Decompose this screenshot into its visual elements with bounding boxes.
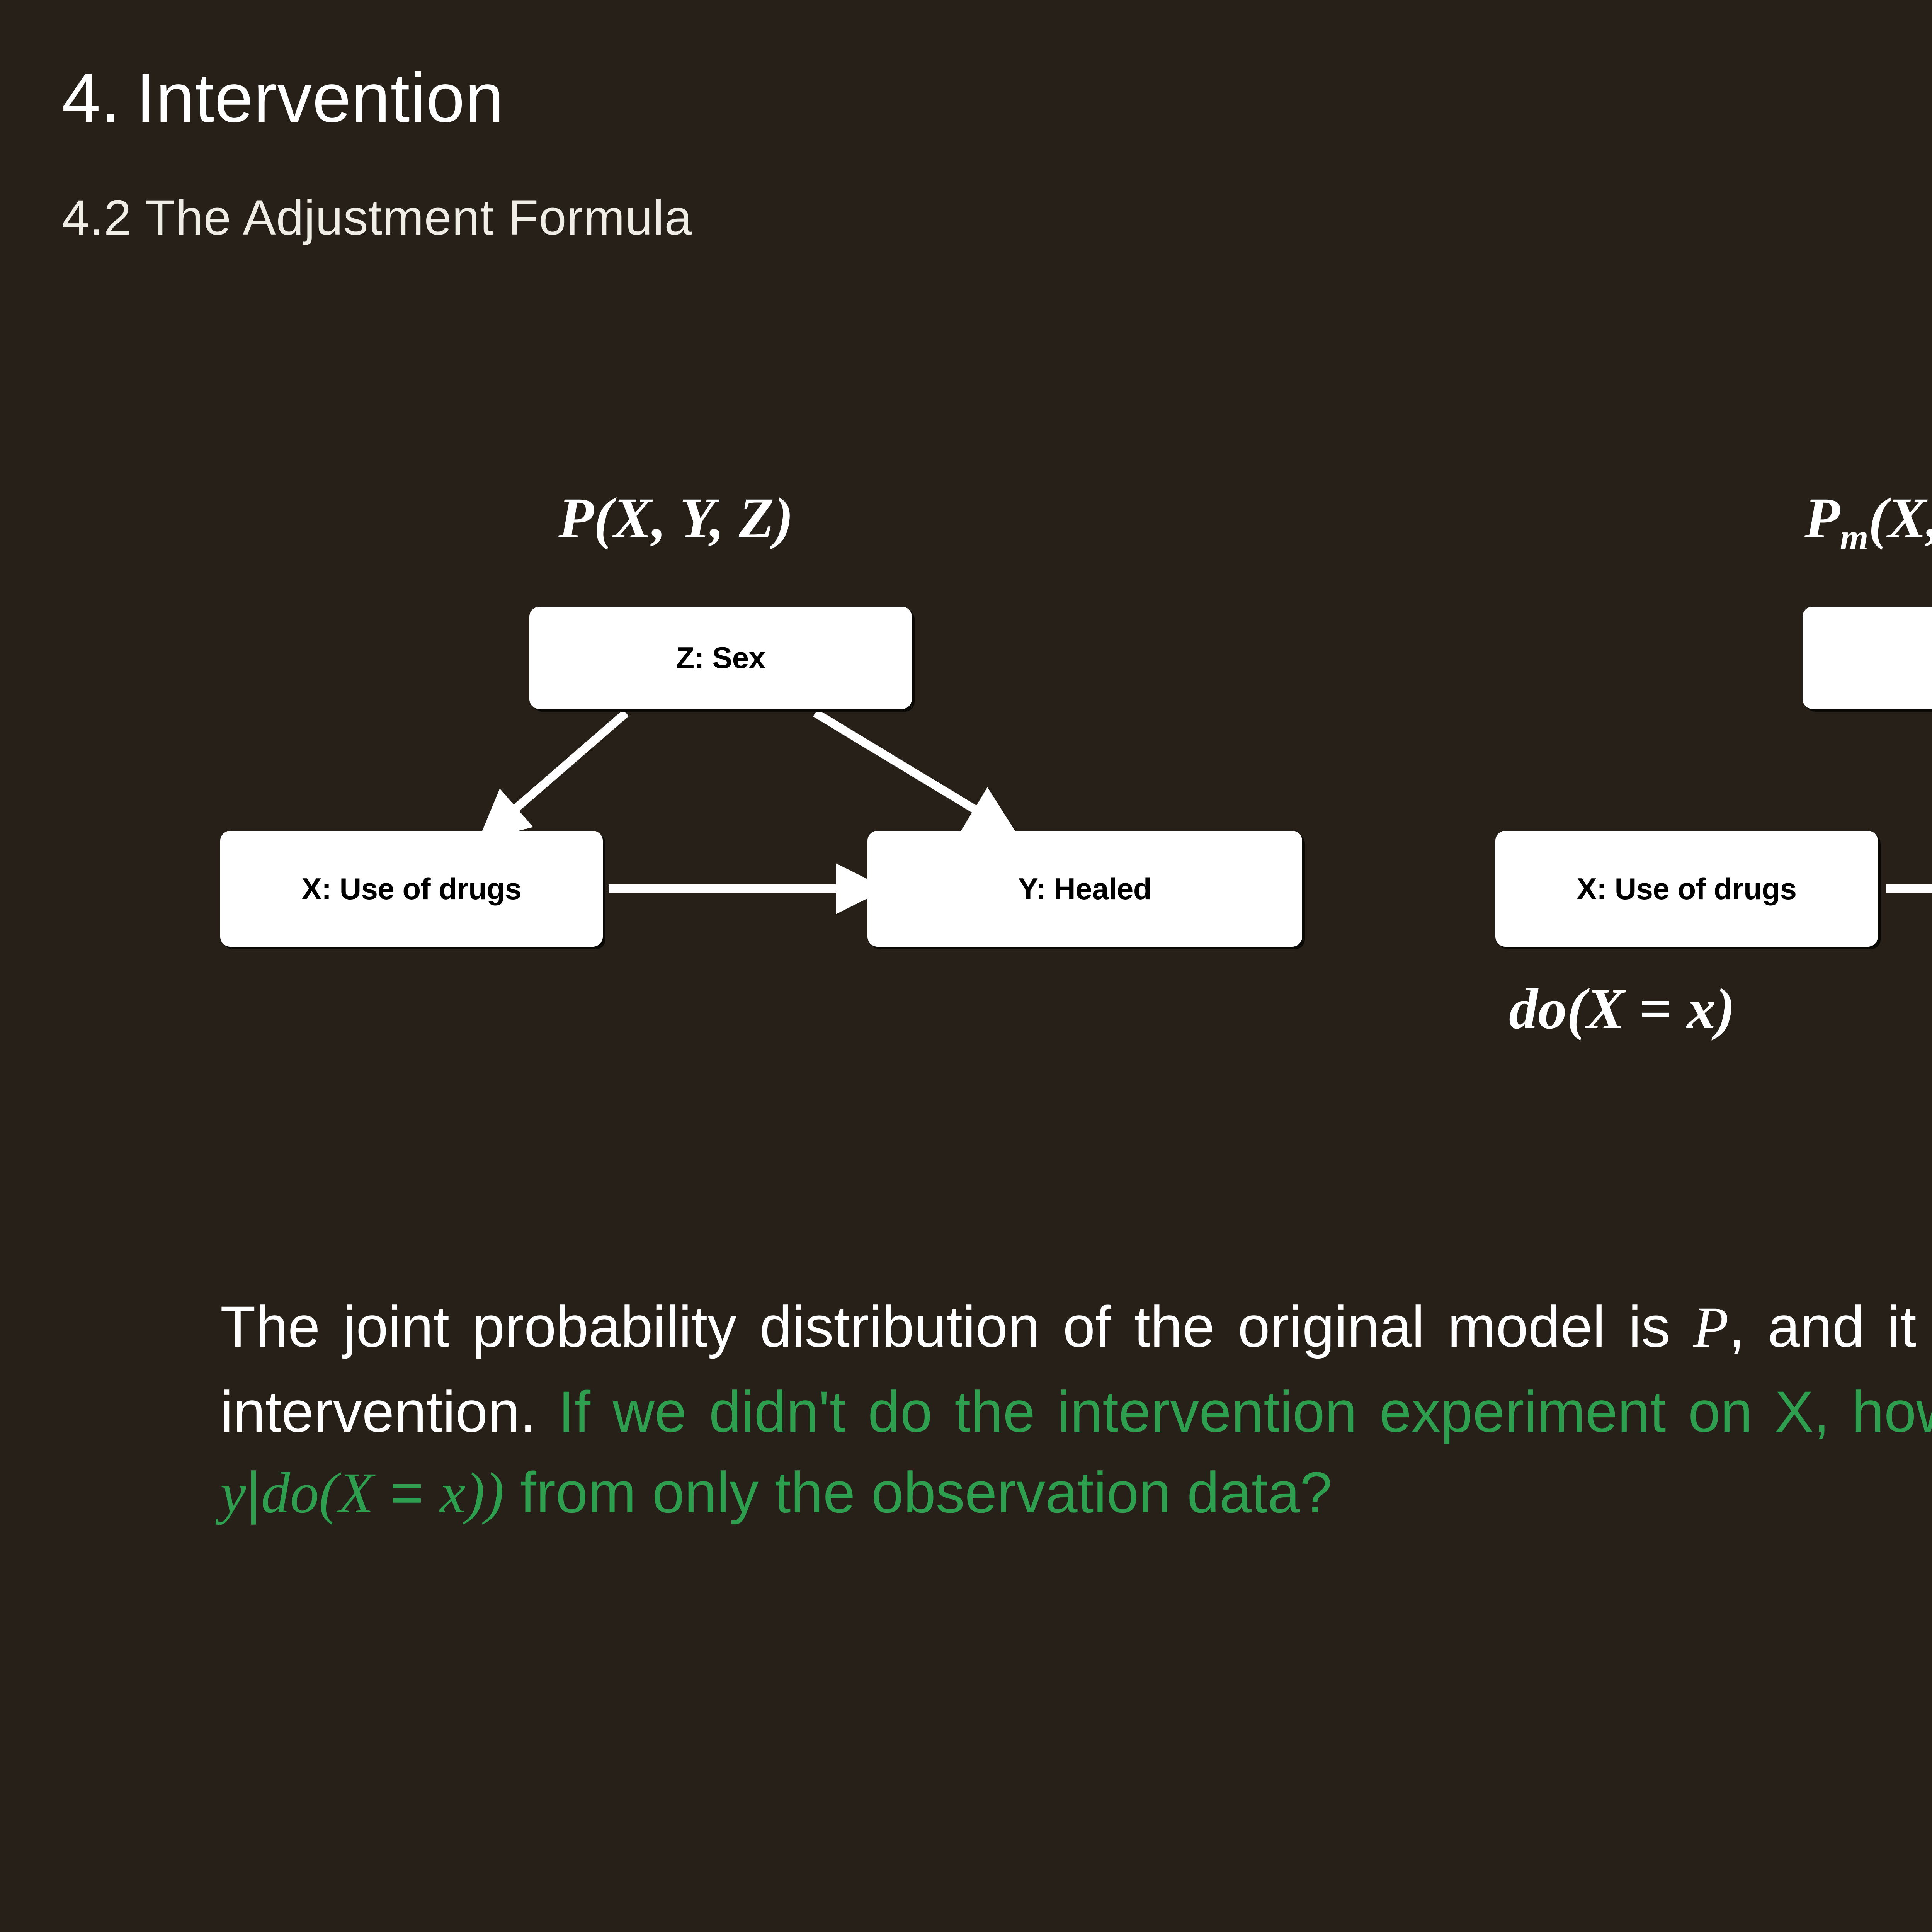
do-operator-caption: do(X = x) <box>1509 976 1735 1042</box>
edge-z-to-x <box>510 713 626 813</box>
page-subtitle: 4.2 The Adjustment Formula <box>62 189 692 246</box>
body-math-close: )) <box>466 1461 504 1525</box>
page-title-number: 4. <box>62 59 121 137</box>
node-z-sex-original[interactable]: Z: Sex <box>529 607 912 709</box>
edge-z-to-y <box>815 713 981 813</box>
body-seg-6-highlight: If we didn't do the intervention experim… <box>558 1379 1932 1444</box>
body-math-bar: | <box>246 1460 261 1525</box>
body-math-p: P <box>1693 1295 1729 1359</box>
node-z-sex-intervened[interactable]: Z: Sex <box>1803 607 1932 709</box>
node-label: Z: Sex <box>676 640 765 675</box>
node-x-use-of-drugs-original[interactable]: X: Use of drugs <box>220 831 603 947</box>
body-paragraph: The joint probability distribution of th… <box>220 1287 1932 1533</box>
body-seg-1: The joint probability distribution of th… <box>220 1294 1693 1359</box>
page-title-text: Intervention <box>136 59 504 137</box>
slide-root: 4.Intervention 4.2 The Adjustment Formul… <box>0 0 1932 1932</box>
diagram-label-p: P(X, Y, Z) <box>558 485 793 551</box>
body-seg-3: , and it changes to <box>1729 1294 1932 1359</box>
body-math-do: do(X <box>261 1461 374 1525</box>
body-math-eq2: = <box>374 1460 440 1525</box>
node-x-use-of-drugs-intervened[interactable]: X: Use of drugs <box>1495 831 1878 947</box>
node-label: Y: Healed <box>1018 871 1151 906</box>
body-math-x: x <box>440 1461 466 1525</box>
node-y-healed-original[interactable]: Y: Healed <box>867 831 1302 947</box>
body-math-y: y <box>220 1461 246 1525</box>
node-label: X: Use of drugs <box>1577 871 1797 906</box>
diagram-label-pm: Pm(X, Y, Z) <box>1804 485 1932 558</box>
page-title: 4.Intervention <box>62 58 504 138</box>
node-label: X: Use of drugs <box>302 871 522 906</box>
body-seg-8-highlight: from only the observation data? <box>504 1460 1332 1525</box>
